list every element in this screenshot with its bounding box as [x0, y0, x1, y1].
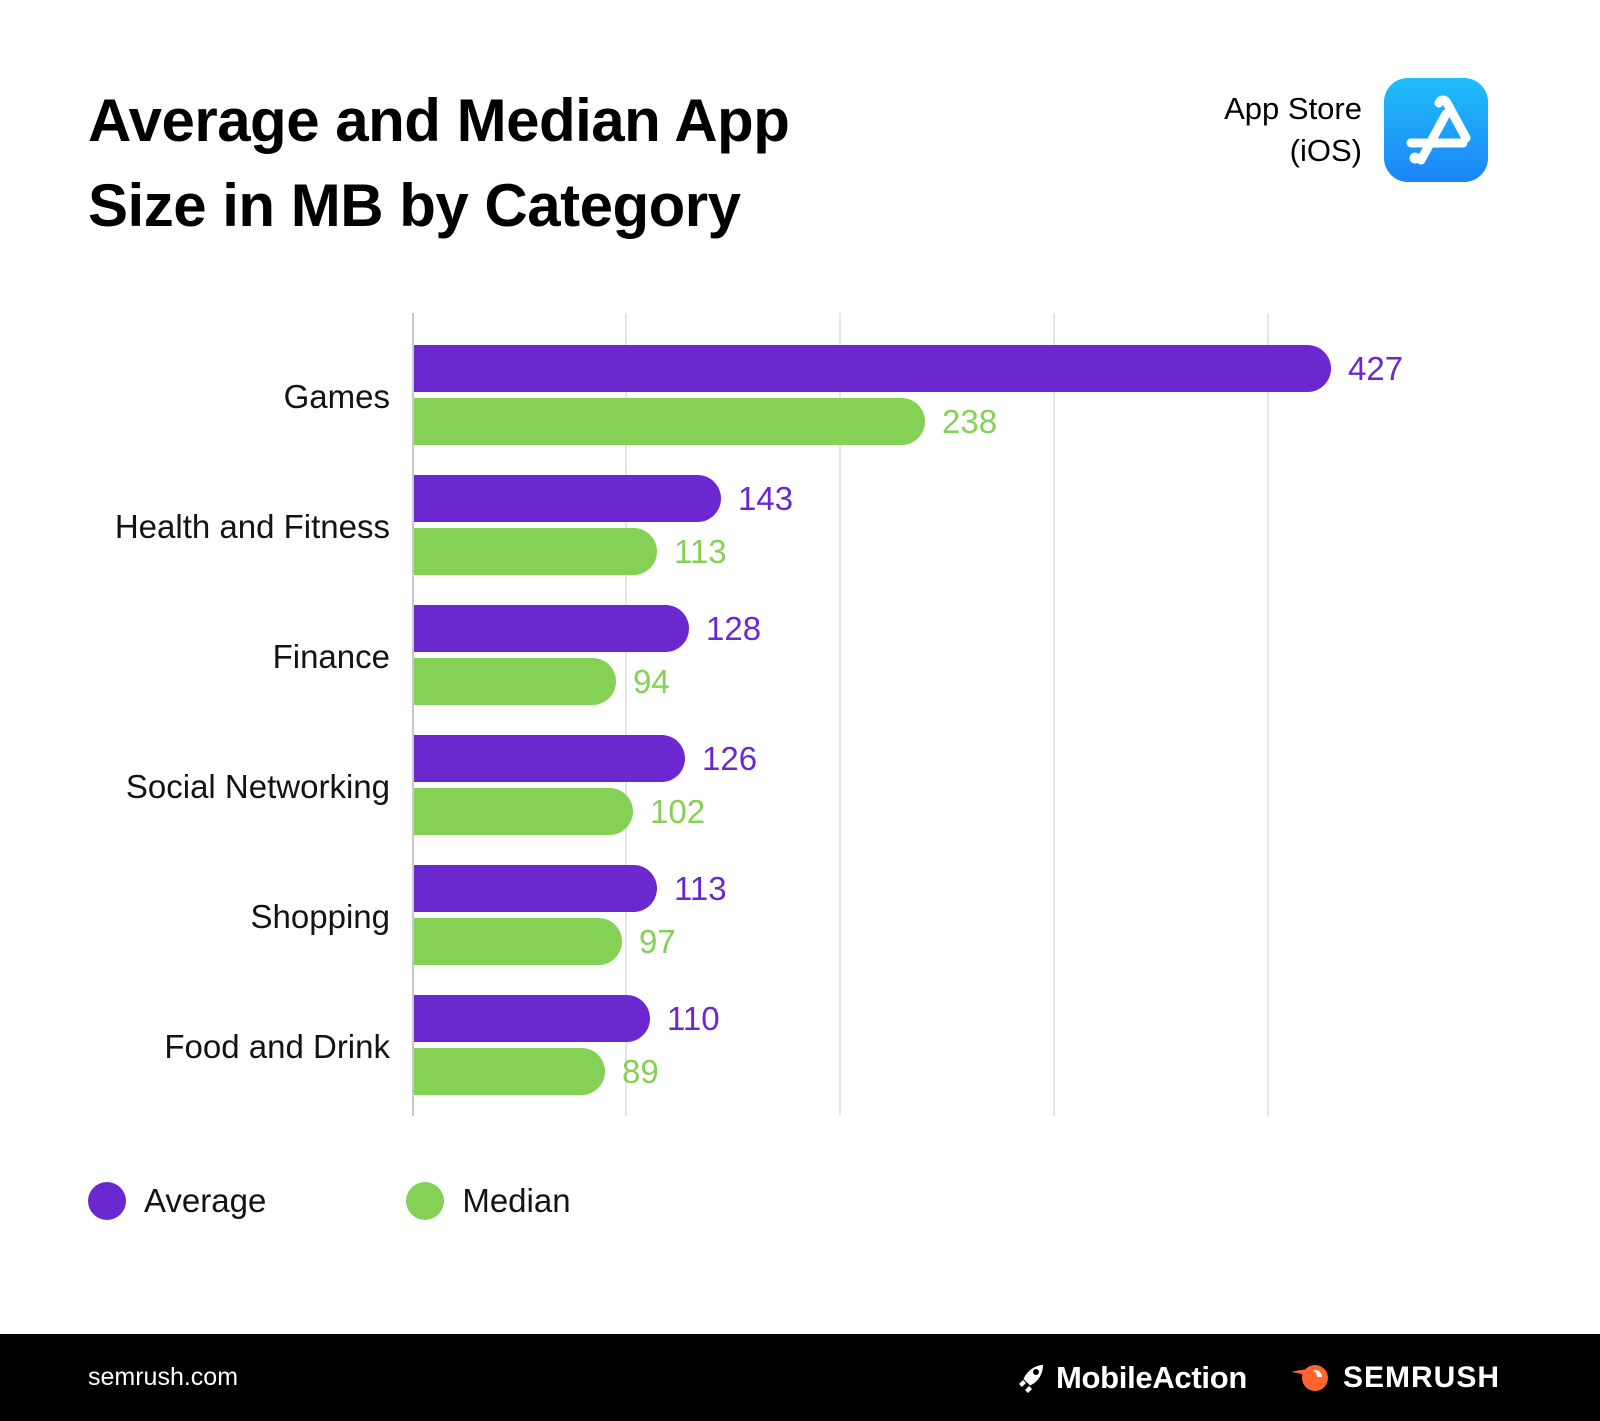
gridline-300	[1053, 313, 1055, 1116]
mobileaction-logo[interactable]: MobileAction	[1014, 1360, 1247, 1396]
bar-value-average: 113	[674, 868, 727, 909]
category-label: Shopping	[0, 897, 390, 937]
bar-value-median: 94	[633, 661, 670, 702]
bar-median[interactable]	[414, 788, 633, 835]
semrush-logo-text: SEMRUSH	[1343, 1361, 1500, 1395]
bar-value-median: 102	[650, 791, 705, 832]
bar-average[interactable]	[414, 605, 689, 652]
category-label: Health and Fitness	[0, 507, 390, 547]
legend-swatch-median-icon	[406, 1182, 444, 1220]
app-store-badge: App Store (iOS)	[1224, 78, 1488, 182]
footer-url-link[interactable]: semrush.com	[88, 1363, 238, 1392]
category-label: Finance	[0, 637, 390, 677]
bar-median[interactable]	[414, 658, 616, 705]
bar-average[interactable]	[414, 995, 650, 1042]
bar-value-average: 427	[1348, 348, 1403, 389]
bar-value-median: 97	[639, 921, 676, 962]
bar-median[interactable]	[414, 398, 925, 445]
category-label: Social Networking	[0, 767, 390, 807]
semrush-logo[interactable]: SEMRUSH	[1289, 1361, 1500, 1395]
app-store-icon	[1384, 78, 1488, 182]
bar-value-median: 113	[674, 531, 727, 572]
bar-median[interactable]	[414, 528, 657, 575]
legend-item-average[interactable]: Average	[88, 1182, 266, 1220]
bar-average[interactable]	[414, 735, 685, 782]
category-label: Food and Drink	[0, 1027, 390, 1067]
bar-group: Games 427 238	[0, 345, 1600, 449]
footer-logos: MobileAction SEMRUSH	[1014, 1360, 1500, 1396]
chart-header: Average and Median App Size in MB by Cat…	[0, 0, 1600, 300]
bar-average[interactable]	[414, 865, 657, 912]
bar-median[interactable]	[414, 918, 622, 965]
bar-group: Health and Fitness 143 113	[0, 475, 1600, 579]
mobileaction-logo-text: MobileAction	[1056, 1360, 1247, 1396]
app-store-badge-label: App Store (iOS)	[1224, 88, 1362, 172]
legend-label-average: Average	[144, 1182, 266, 1220]
legend-swatch-average-icon	[88, 1182, 126, 1220]
bar-value-median: 238	[942, 401, 997, 442]
bar-value-average: 126	[702, 738, 757, 779]
bar-group: Shopping 113 97	[0, 865, 1600, 969]
bar-average[interactable]	[414, 475, 721, 522]
bar-group: Finance 128 94	[0, 605, 1600, 709]
bar-value-average: 143	[738, 478, 793, 519]
bar-value-average: 110	[667, 998, 720, 1039]
legend-item-median[interactable]: Median	[406, 1182, 570, 1220]
gridline-400	[1267, 313, 1269, 1116]
semrush-comet-icon	[1289, 1361, 1335, 1395]
bar-value-median: 89	[622, 1051, 659, 1092]
legend-label-median: Median	[462, 1182, 570, 1220]
rocket-icon	[1014, 1361, 1048, 1395]
footer-bar: semrush.com MobileAction SEMRUSH	[0, 1334, 1600, 1421]
bar-median[interactable]	[414, 1048, 605, 1095]
bar-group: Food and Drink 110 89	[0, 995, 1600, 1099]
bar-value-average: 128	[706, 608, 761, 649]
chart-legend: Average Median	[88, 1182, 571, 1220]
bar-chart-plot: Games 427 238 Health and Fitness 143 113…	[0, 300, 1600, 1130]
bar-average[interactable]	[414, 345, 1331, 392]
bar-group: Social Networking 126 102	[0, 735, 1600, 839]
page-title: Average and Median App Size in MB by Cat…	[88, 78, 988, 248]
category-label: Games	[0, 377, 390, 417]
